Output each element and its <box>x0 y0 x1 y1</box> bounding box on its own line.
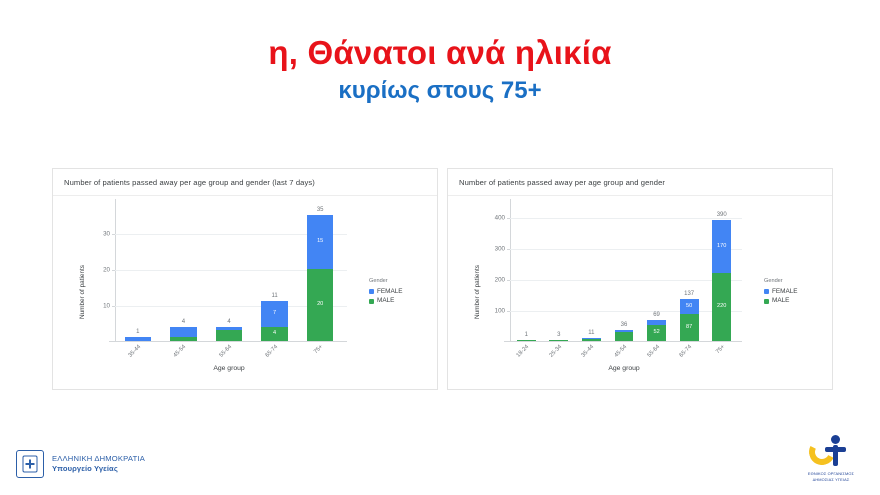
bar-total-label: 4 <box>227 319 230 325</box>
greek-government-logo: ΕΛΛΗΝΙΚΗ ΔΗΜΟΚΡΑΤΙΑ Υπουργείο Υγείας <box>16 450 145 478</box>
panel-divider-left <box>53 195 437 196</box>
bar-segment-female[interactable]: 170 <box>712 220 731 273</box>
bar-total-label: 69 <box>653 312 660 318</box>
y-axis-title-left: Number of patients <box>79 265 86 319</box>
segment-value-male: 220 <box>717 304 726 310</box>
bar-total-label: 3 <box>557 332 560 338</box>
cross-icon <box>29 460 31 469</box>
slide-canvas: η, Θάνατοι ανά ηλικία κυρίως στους 75+ N… <box>0 0 880 495</box>
bar-segment-female[interactable] <box>170 327 196 338</box>
segment-value-female: 7 <box>273 311 276 317</box>
gridline <box>510 218 742 219</box>
bar-75+[interactable]: 39017022075+ <box>712 220 731 341</box>
x-tick-label: 35-44 <box>581 344 596 359</box>
bar-segment-male[interactable] <box>615 332 634 341</box>
plot-area-left: 102030135-44445-54455-64117465-743515207… <box>115 209 343 342</box>
x-tick-label: 35-44 <box>127 344 142 359</box>
gridline <box>510 249 742 250</box>
title-block: η, Θάνατοι ανά ηλικία κυρίως στους 75+ <box>0 34 880 105</box>
eody-head-shape <box>831 435 840 444</box>
gridline <box>510 280 742 281</box>
plot-area-right: 100200300400118-24325-341135-443645-5469… <box>510 209 738 342</box>
bar-35-44[interactable]: 1135-44 <box>582 338 601 341</box>
x-tick-label: 65-74 <box>679 344 694 359</box>
legend-right: Gender FEMALE MALE <box>764 277 798 306</box>
legend-swatch-female <box>764 289 769 294</box>
y-tick-label: 10 <box>103 303 110 310</box>
legend-item-female[interactable]: FEMALE <box>369 287 403 296</box>
chart-panel-left: Number of patients passed away per age g… <box>52 168 438 390</box>
bar-segment-male[interactable] <box>170 337 196 341</box>
bar-segment-female[interactable]: 50 <box>680 299 699 314</box>
x-axis-title-right: Age group <box>510 365 738 372</box>
legend-label-female: FEMALE <box>377 287 403 296</box>
bar-total-label: 4 <box>182 319 185 325</box>
bar-45-54[interactable]: 445-54 <box>170 327 196 341</box>
gov-logo-line2: Υπουργείο Υγείας <box>52 464 145 474</box>
x-axis-title-left: Age group <box>115 365 343 372</box>
bar-segment-male[interactable]: 20 <box>307 269 333 341</box>
legend-label-male: MALE <box>772 296 789 305</box>
eody-figure-icon <box>808 434 854 468</box>
y-tick-label: 30 <box>103 231 110 238</box>
legend-label-female: FEMALE <box>772 287 798 296</box>
y-tick-label: 300 <box>495 246 505 253</box>
bar-total-label: 1 <box>136 329 139 335</box>
bar-65-74[interactable]: 137508765-74 <box>680 299 699 341</box>
bar-segment-male[interactable] <box>582 339 601 341</box>
x-tick-label: 18-24 <box>516 344 531 359</box>
segment-value-male: 4 <box>273 331 276 337</box>
eody-logo-line2: ΔΗΜΟΣΙΑΣ ΥΓΕΙΑΣ <box>798 477 864 483</box>
bar-total-label: 36 <box>621 322 628 328</box>
y-tick-mark <box>112 270 115 271</box>
bar-total-label: 11 <box>588 330 594 336</box>
y-tick-mark <box>507 249 510 250</box>
x-tick-label: 25-34 <box>548 344 563 359</box>
bar-18-24[interactable]: 118-24 <box>517 340 536 342</box>
bar-total-label: 137 <box>684 291 694 297</box>
bar-total-label: 1 <box>525 332 528 338</box>
y-tick-mark <box>507 311 510 312</box>
bar-segment-male[interactable]: 87 <box>680 314 699 341</box>
eody-body-shape <box>833 445 838 466</box>
y-tick-label: 200 <box>495 277 505 284</box>
segment-value-male: 52 <box>653 330 659 336</box>
x-axis-line <box>504 341 742 342</box>
bar-total-label: 11 <box>271 293 277 299</box>
x-tick-label: 45-54 <box>613 344 628 359</box>
bar-total-label: 35 <box>317 207 324 213</box>
legend-title: Gender <box>764 277 798 285</box>
y-tick-label: 20 <box>103 267 110 274</box>
bar-total-label: 390 <box>717 212 727 218</box>
x-axis-line <box>109 341 347 342</box>
bar-segment-male[interactable] <box>549 340 568 341</box>
y-tick-mark <box>112 234 115 235</box>
x-tick-label: 55-64 <box>218 344 233 359</box>
y-tick-mark <box>507 280 510 281</box>
bar-segment-male[interactable] <box>216 330 242 341</box>
bar-segment-male[interactable] <box>517 340 536 341</box>
legend-title: Gender <box>369 277 403 285</box>
x-tick-label: 55-64 <box>646 344 661 359</box>
segment-value-female: 170 <box>717 244 726 250</box>
gov-logo-text: ΕΛΛΗΝΙΚΗ ΔΗΜΟΚΡΑΤΙΑ Υπουργείο Υγείας <box>52 454 145 475</box>
segment-value-female: 50 <box>686 304 692 310</box>
y-tick-mark <box>112 306 115 307</box>
x-tick-label: 75+ <box>715 344 726 355</box>
legend-swatch-female <box>369 289 374 294</box>
panel-divider-right <box>448 195 832 196</box>
bar-segment-male[interactable]: 52 <box>647 325 666 341</box>
x-tick-label: 45-54 <box>173 344 188 359</box>
legend-item-male[interactable]: MALE <box>764 296 798 305</box>
bar-segment-female[interactable] <box>125 337 151 341</box>
gridline <box>510 311 742 312</box>
segment-value-male: 20 <box>317 302 323 308</box>
bar-segment-male[interactable]: 4 <box>261 327 287 341</box>
bar-35-44[interactable]: 135-44 <box>125 337 151 341</box>
y-axis-title-right: Number of patients <box>474 265 481 319</box>
segment-value-male: 87 <box>686 325 692 331</box>
legend-swatch-male <box>369 299 374 304</box>
bar-25-34[interactable]: 325-34 <box>549 340 568 342</box>
legend-left: Gender FEMALE MALE <box>369 277 403 306</box>
bar-55-64[interactable]: 455-64 <box>216 327 242 341</box>
chart-title-left: Number of patients passed away per age g… <box>64 178 315 187</box>
x-tick-label: 75+ <box>313 344 324 355</box>
bar-segment-female[interactable]: 15 <box>307 215 333 269</box>
page-title: η, Θάνατοι ανά ηλικία <box>0 34 880 72</box>
bar-65-74[interactable]: 117465-74 <box>261 301 287 341</box>
y-tick-mark <box>507 218 510 219</box>
bar-75+[interactable]: 35152075+ <box>307 215 333 341</box>
legend-swatch-male <box>764 299 769 304</box>
y-tick-label: 100 <box>495 308 505 315</box>
bar-segment-female[interactable]: 7 <box>261 301 287 326</box>
legend-item-female[interactable]: FEMALE <box>764 287 798 296</box>
y-tick-label: 400 <box>495 215 505 222</box>
greek-coat-of-arms-icon <box>16 450 44 478</box>
segment-value-female: 15 <box>317 239 323 245</box>
page-subtitle: κυρίως στους 75+ <box>0 77 880 105</box>
x-tick-label: 65-74 <box>264 344 279 359</box>
bar-55-64[interactable]: 695255-64 <box>647 320 666 341</box>
eody-logo: ΕΘΝΙΚΟΣ ΟΡΓΑΝΙΣΜΟΣ ΔΗΜΟΣΙΑΣ ΥΓΕΙΑΣ <box>798 434 864 483</box>
legend-item-male[interactable]: MALE <box>369 296 403 305</box>
gov-logo-line1: ΕΛΛΗΝΙΚΗ ΔΗΜΟΚΡΑΤΙΑ <box>52 454 145 464</box>
chart-panel-right: Number of patients passed away per age g… <box>447 168 833 390</box>
bar-segment-male[interactable]: 220 <box>712 273 731 341</box>
chart-title-right: Number of patients passed away per age g… <box>459 178 665 187</box>
legend-label-male: MALE <box>377 296 394 305</box>
bar-45-54[interactable]: 3645-54 <box>615 330 634 341</box>
y-axis-line <box>510 199 511 342</box>
